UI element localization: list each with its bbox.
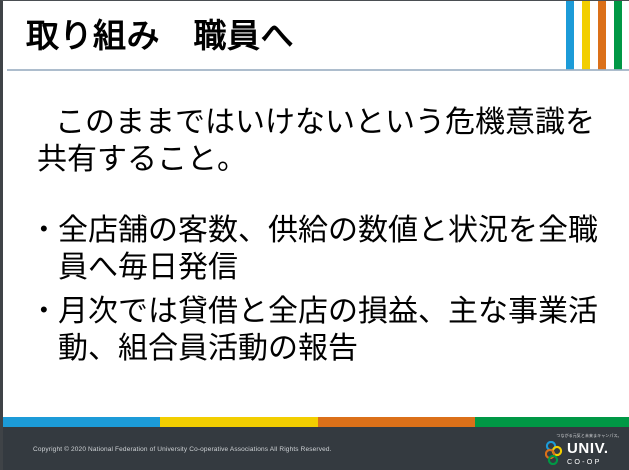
logo-name: UNIV. xyxy=(567,441,609,456)
slide-body: このままではいけないという危機意識を共有すること。 全店舗の客数、供給の数値と状… xyxy=(3,79,629,417)
footer-stripe-green xyxy=(475,417,629,427)
footer-stripe-blue xyxy=(3,417,160,427)
accent-bar-yellow xyxy=(582,1,590,70)
list-item: 全店舗の客数、供給の数値と状況を全職員へ毎日発信 xyxy=(40,213,615,286)
page-title: 取り組み 職員へ xyxy=(26,16,294,56)
coop-circles-icon xyxy=(545,441,565,465)
list-item: 月次では貸借と全店の損益、主な事業活動、組合員活動の報告 xyxy=(40,294,615,367)
slide-footer: Copyright © 2020 National Federation of … xyxy=(3,417,629,470)
bullet-list: 全店舗の客数、供給の数値と状況を全職員へ毎日発信 月次では貸借と全店の損益、主な… xyxy=(40,213,615,375)
title-divider xyxy=(7,69,629,71)
logo-subname: CO-OP xyxy=(567,457,609,466)
accent-bar-green xyxy=(614,1,622,70)
footer-stripe-orange xyxy=(318,417,475,427)
accent-bar-orange xyxy=(598,1,606,70)
logo-wordmark: UNIV. CO-OP xyxy=(567,441,609,466)
univ-coop-logo: つながる元気と未来まキャンパス。 UNIV. CO-OP xyxy=(545,433,623,467)
copyright-text: Copyright © 2020 National Federation of … xyxy=(33,445,332,454)
lead-paragraph: このままではいけないという危機意識を共有すること。 xyxy=(37,105,607,178)
header-accent-bars xyxy=(566,1,622,70)
footer-color-stripe xyxy=(3,417,629,427)
logo-tagline: つながる元気と未来まキャンパス。 xyxy=(557,433,622,439)
slide-header: 取り組み 職員へ xyxy=(3,1,629,73)
slide: 取り組み 職員へ このままではいけないという危機意識を共有すること。 全店舗の客… xyxy=(0,0,629,470)
footer-stripe-yellow xyxy=(160,417,317,427)
accent-bar-blue xyxy=(566,1,574,70)
